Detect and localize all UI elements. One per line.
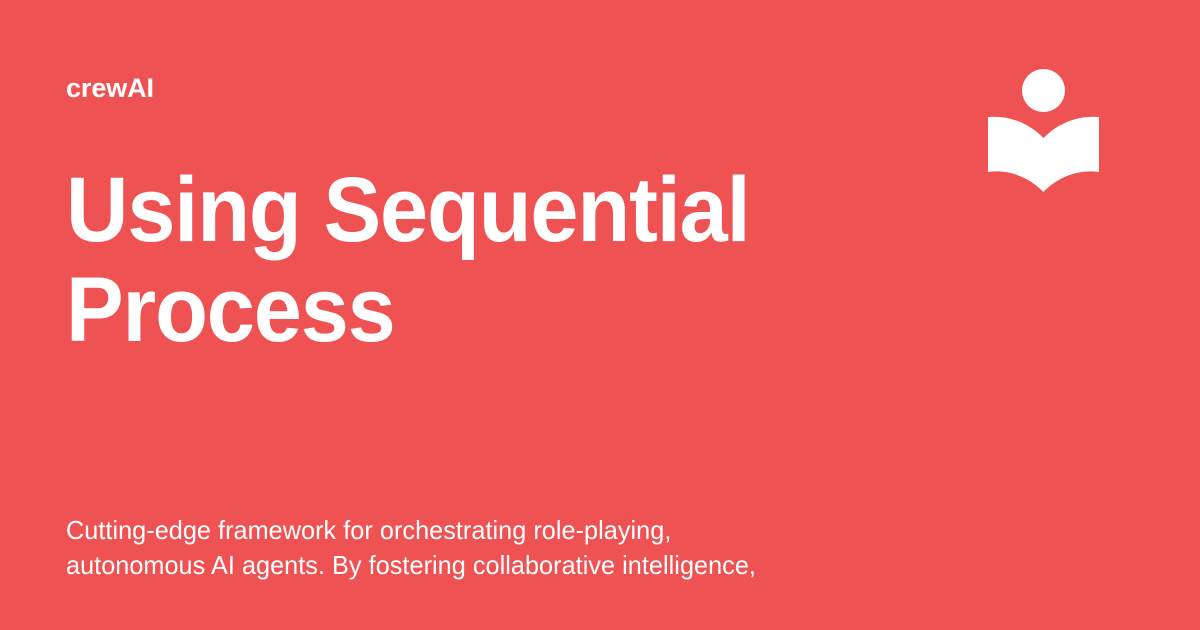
page-title: Using Sequential Process bbox=[66, 160, 893, 360]
open-graph-card: crewAI Using Sequential Process Cutting-… bbox=[0, 0, 1200, 630]
reader-open-book-icon bbox=[986, 66, 1100, 196]
page-description-line: autonomous AI agents. By fostering colla… bbox=[66, 548, 842, 583]
reader-head-shape bbox=[1022, 69, 1065, 112]
book-left-page-shape bbox=[988, 117, 1044, 192]
page-description-line: Cutting-edge framework for orchestrating… bbox=[66, 513, 842, 548]
brand-wordmark: crewAI bbox=[66, 75, 154, 102]
book-right-page-shape bbox=[1044, 117, 1100, 192]
page-description: Cutting-edge framework for orchestrating… bbox=[66, 513, 842, 583]
brand-logo: crewAI bbox=[66, 70, 154, 106]
